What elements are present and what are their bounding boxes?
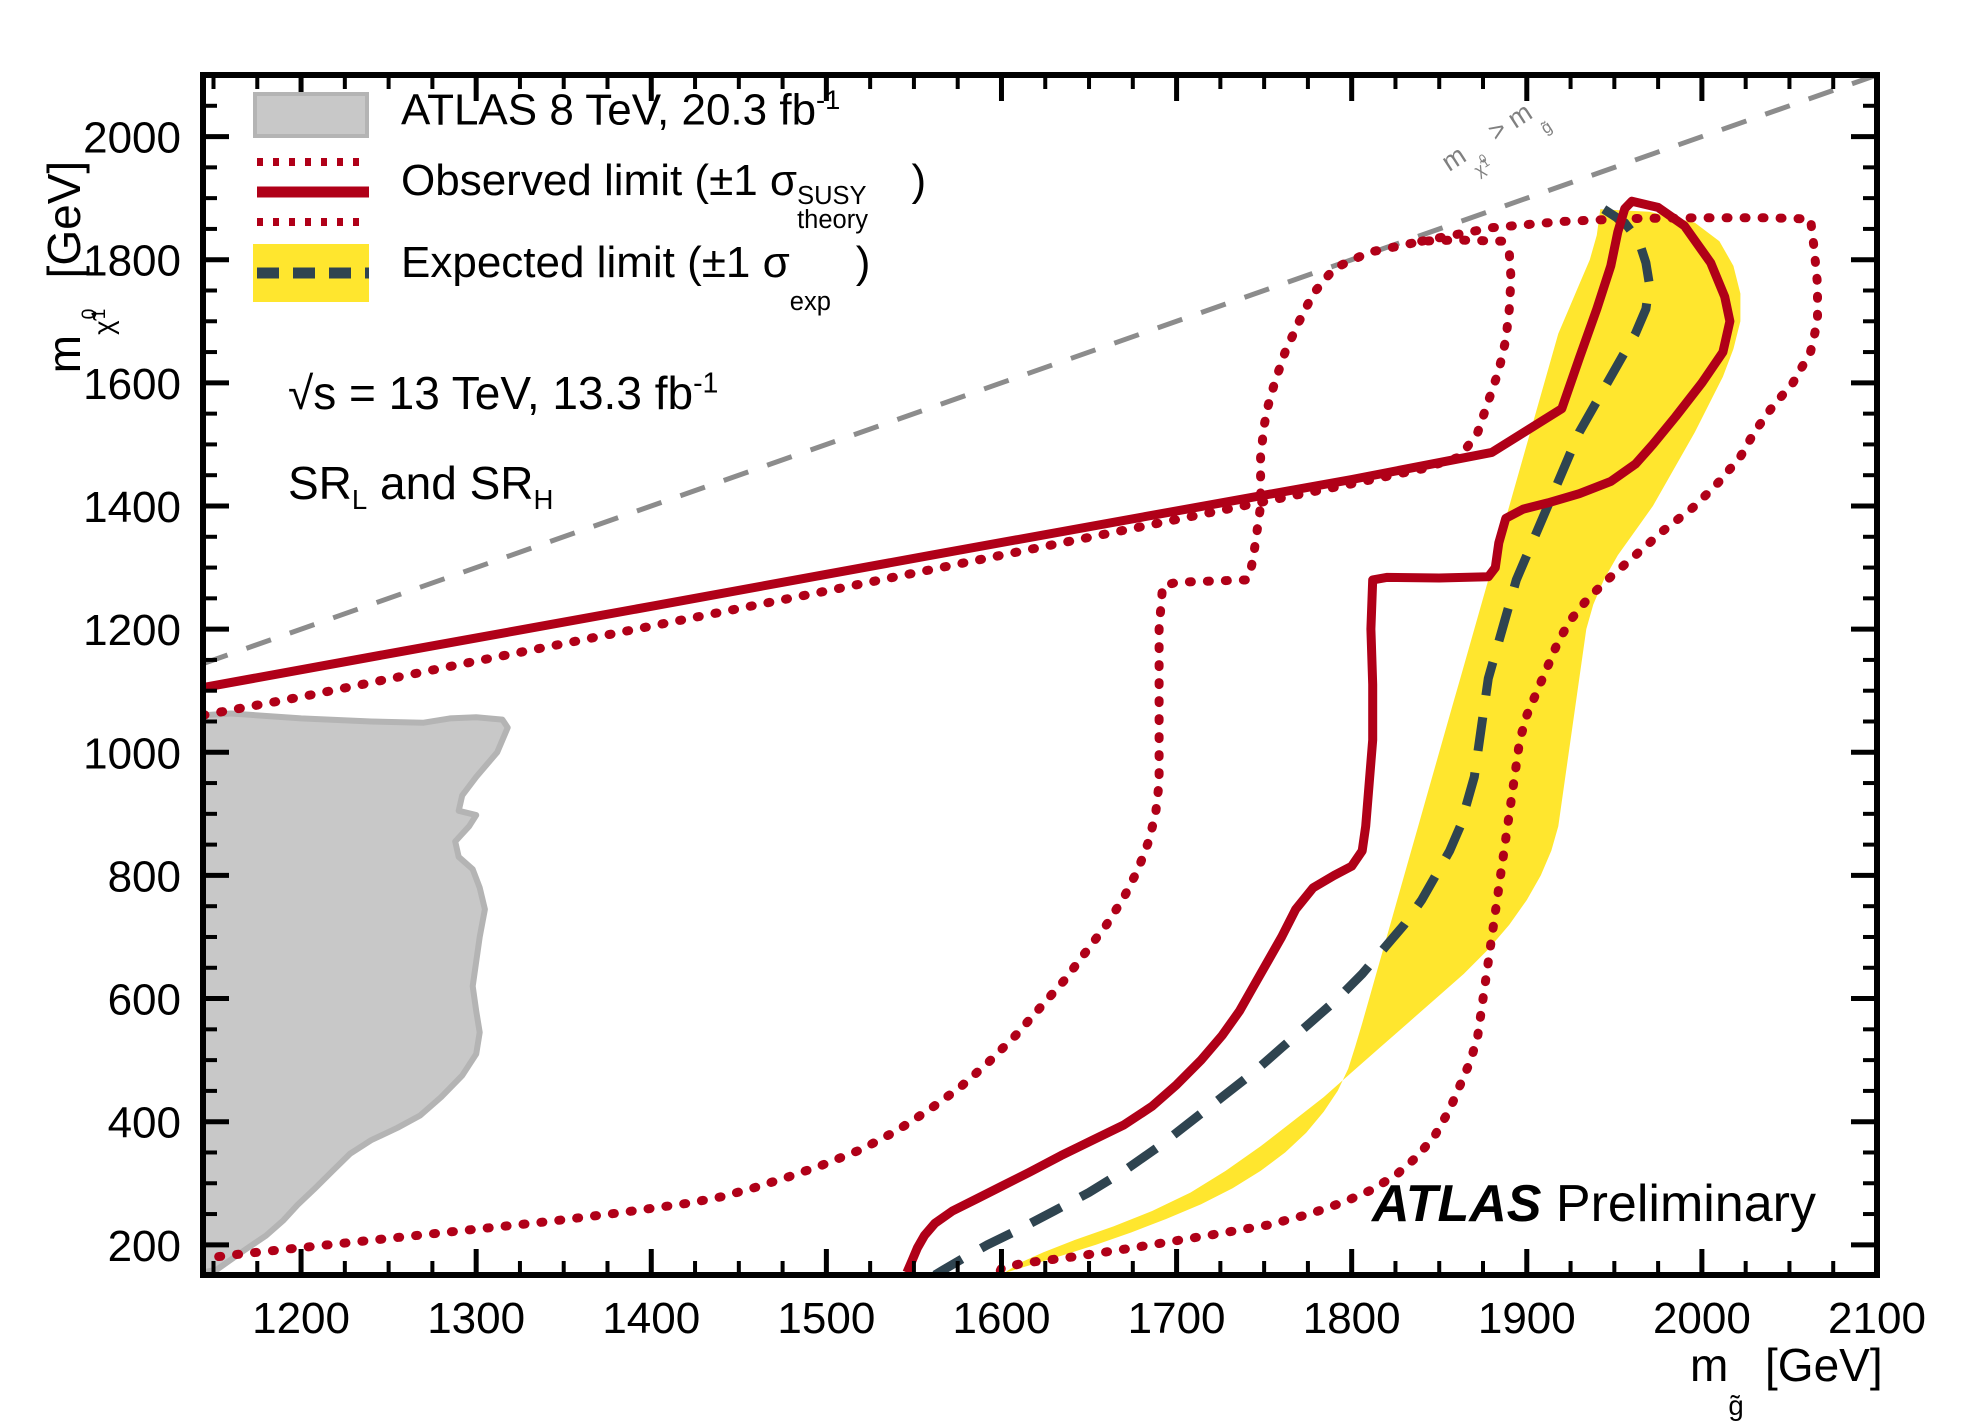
signal-regions-sub-l: L [352, 484, 367, 515]
x-axis-title-gluino: g̃ [1728, 1390, 1743, 1422]
x-tick-label: 1800 [1303, 1294, 1401, 1343]
y-tick-label: 800 [108, 852, 181, 901]
energy-luminosity-sup: -1 [693, 368, 718, 400]
y-axis-title-chi: χ̃ [88, 320, 120, 334]
atlas-preliminary-watermark: ATLAS Preliminary [1372, 1174, 1816, 1234]
legend-entry-atlas8tev[interactable]: ATLAS 8 TeV, 20.3 fb-1 [253, 86, 973, 148]
x-tick-label: 2000 [1653, 1294, 1751, 1343]
signal-regions-sub-h: H [533, 484, 553, 515]
y-tick-label: 1000 [83, 729, 181, 778]
y-tick-label: 1200 [83, 606, 181, 655]
legend-entry-expected[interactable]: Expected limit (±1 σexp) [253, 240, 973, 316]
signal-regions-annotation: SRL and SRH [288, 456, 553, 516]
y-tick-label: 200 [108, 1222, 181, 1271]
legend: ATLAS 8 TeV, 20.3 fb-1 Observed limit (±… [253, 86, 973, 316]
x-axis-title: mg̃ [GeV] [1690, 1338, 1883, 1392]
expected-dash-swatch-icon [253, 240, 377, 308]
gray-box-swatch-icon [253, 92, 369, 138]
legend-label-observed-sub: theory [797, 206, 868, 235]
legend-label-expected-pre: Expected limit (±1 σ [401, 238, 790, 287]
x-tick-label: 1700 [1128, 1294, 1226, 1343]
y-tick-label: 600 [108, 976, 181, 1025]
legend-label-atlas8tev-sup: -1 [816, 84, 840, 115]
energy-luminosity-annotation: √s = 13 TeV, 13.3 fb-1 [288, 366, 718, 420]
energy-luminosity-text: √s = 13 TeV, 13.3 fb [288, 367, 693, 419]
x-tick-label: 1300 [427, 1294, 525, 1343]
x-tick-label: 1600 [953, 1294, 1051, 1343]
x-axis-title-m: m [1690, 1339, 1728, 1391]
atlas-8tev-region [203, 714, 508, 1273]
x-tick-label: 1200 [252, 1294, 350, 1343]
legend-label-expected-sub: exp [790, 288, 831, 317]
y-axis-title-sup0: 0 [79, 309, 101, 320]
legend-entry-observed[interactable]: Observed limit (±1 σSUSYtheory) [253, 148, 973, 234]
x-tick-label: 1900 [1478, 1294, 1576, 1343]
signal-regions-pre: SR [288, 457, 352, 509]
legend-label-expected-post: ) [856, 238, 871, 287]
y-axis-title-unit: [GeV] [38, 161, 90, 291]
x-tick-label: 2100 [1828, 1294, 1926, 1343]
legend-label-observed-post: ) [911, 156, 926, 205]
x-tick-label: 1500 [777, 1294, 875, 1343]
y-axis-title: mχ̃10 [GeV] [0, 0, 116, 560]
legend-label-observed-pre: Observed limit (±1 σ [401, 156, 797, 205]
x-tick-label: 1400 [602, 1294, 700, 1343]
x-axis-title-unit: [GeV] [1752, 1339, 1882, 1391]
atlas-watermark-bold: ATLAS [1372, 1175, 1541, 1233]
signal-regions-mid: and SR [367, 457, 533, 509]
y-tick-label: 400 [108, 1099, 181, 1148]
y-axis-title-m: m [38, 335, 90, 373]
legend-label-atlas8tev: ATLAS 8 TeV, 20.3 fb [401, 86, 816, 135]
chart-root: 1200130014001500160017001800190020002100… [0, 0, 1979, 1424]
atlas-watermark-rest: Preliminary [1541, 1175, 1816, 1233]
observed-limit-swatch-icon [251, 150, 375, 232]
